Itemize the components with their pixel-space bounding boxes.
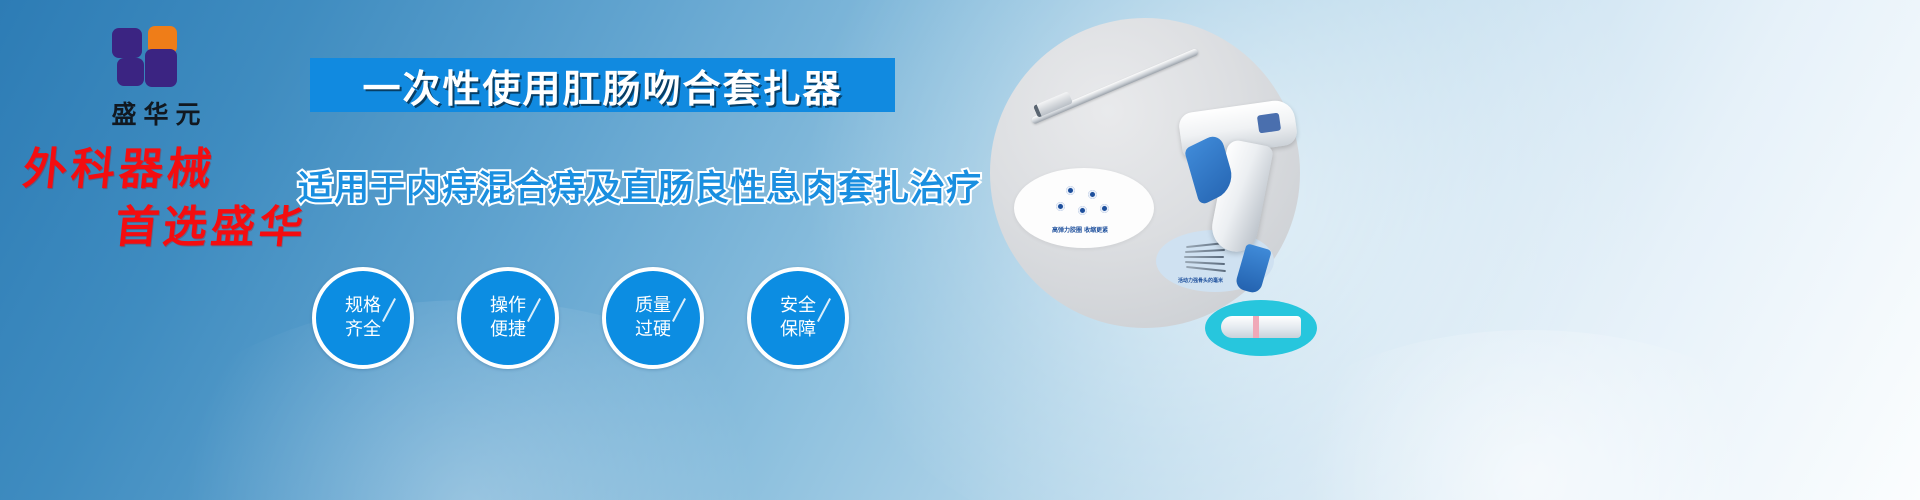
slash-icon xyxy=(817,298,831,322)
device-shaft xyxy=(1031,48,1199,125)
red-calligraphy-slogan: 外科器械 首选盛华 xyxy=(15,148,316,250)
feature-badge-safety[interactable]: 安全 保障 xyxy=(747,267,849,369)
background-glow-bottom xyxy=(1250,330,1810,500)
promo-banner: 盛华元 外科器械 首选盛华 一次性使用肛肠吻合套扎器 适用于内痔混合痔及直肠良性… xyxy=(0,0,1920,500)
logo-mark-icon xyxy=(112,26,200,88)
headline-bar: 一次性使用肛肠吻合套扎器 xyxy=(310,58,895,112)
logo-square-bottom-left xyxy=(117,58,144,86)
feature-label-top: 操作 xyxy=(490,294,526,318)
feature-label-bottom: 保障 xyxy=(780,318,816,342)
feature-label-top: 规格 xyxy=(345,294,381,318)
feature-badge-list: 规格 齐全 操作 便捷 质量 过硬 安全 保障 xyxy=(312,267,849,369)
product-photo: 高弹力胶圈 收缩更紧 活动力强骨头的毫米 xyxy=(990,18,1300,328)
logo-square-top-left xyxy=(112,28,142,58)
slash-icon xyxy=(382,298,396,322)
slash-icon xyxy=(527,298,541,322)
slogan-line-2: 首选盛华 xyxy=(113,206,310,250)
slash-icon xyxy=(672,298,686,322)
feature-label-bottom: 齐全 xyxy=(345,318,381,342)
feature-label-bottom: 便捷 xyxy=(490,318,526,342)
company-logo[interactable]: 盛华元 xyxy=(66,26,246,131)
feature-label-top: 安全 xyxy=(780,294,816,318)
logo-company-name: 盛华元 xyxy=(66,95,246,131)
headline-subtitle: 适用于内痔混合痔及直肠良性息肉套扎治疗 xyxy=(298,160,982,211)
feature-label-bottom: 过硬 xyxy=(635,318,671,342)
feature-badge-quality[interactable]: 质量 过硬 xyxy=(602,267,704,369)
ligator-device-illustration xyxy=(990,18,1300,328)
logo-square-bottom-right xyxy=(145,49,177,87)
device-control-pad xyxy=(1257,113,1281,134)
slogan-line-1: 外科器械 xyxy=(20,144,217,195)
feature-badge-specs[interactable]: 规格 齐全 xyxy=(312,267,414,369)
feature-label-top: 质量 xyxy=(635,294,671,318)
headline-title: 一次性使用肛肠吻合套扎器 xyxy=(362,58,842,113)
feature-badge-operation[interactable]: 操作 便捷 xyxy=(457,267,559,369)
